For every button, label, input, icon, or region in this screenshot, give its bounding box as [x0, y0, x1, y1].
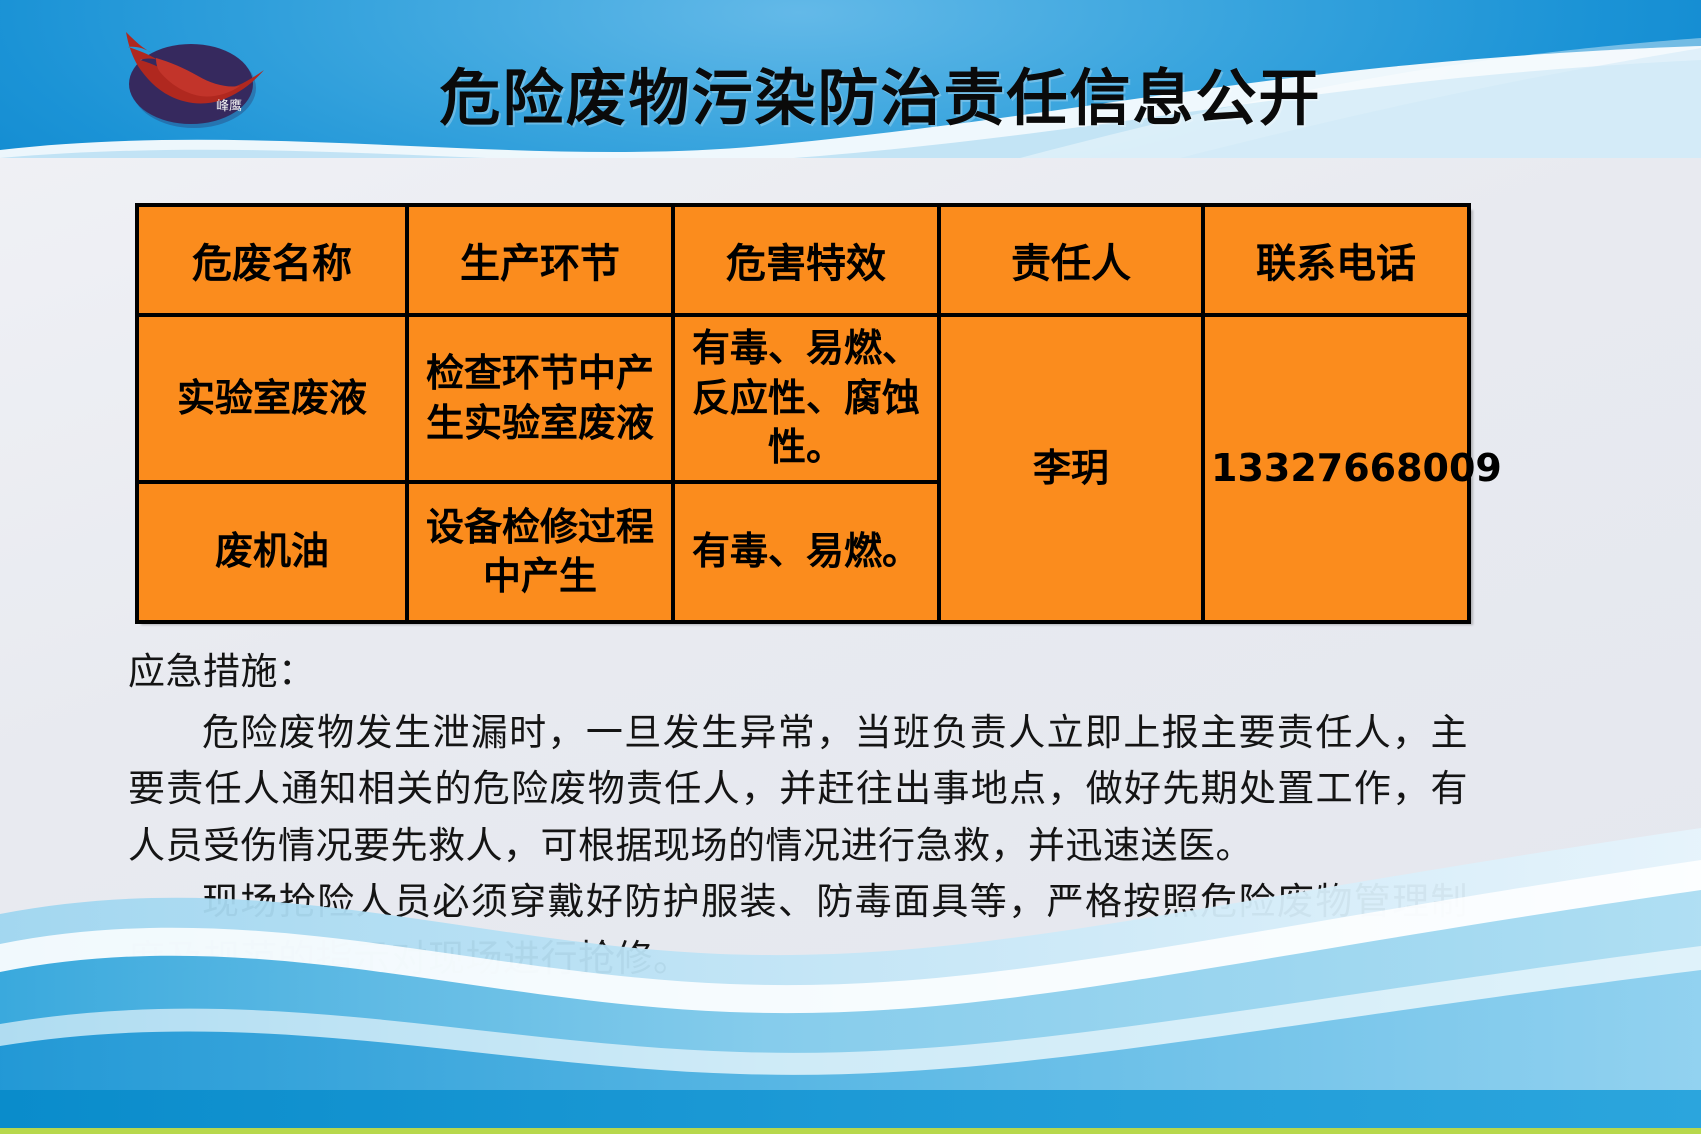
column-header-phone: 联系电话: [1203, 205, 1469, 315]
table-row: 实验室废液 检查环节中产生实验室废液 有毒、易燃、反应性、腐蚀性。 李玥 133…: [137, 315, 1469, 482]
cell-stage: 检查环节中产生实验室废液: [407, 315, 673, 482]
cell-hazard: 有毒、易燃、反应性、腐蚀性。: [673, 315, 939, 482]
header-band: 峰鹰 危险废物污染防治责任信息公开: [0, 0, 1701, 158]
cell-hazard: 有毒、易燃。: [673, 482, 939, 622]
column-header-hazard: 危害特效: [673, 205, 939, 315]
column-header-person: 责任人: [939, 205, 1203, 315]
emergency-measures-label: 应急措施：: [128, 645, 1468, 702]
hazard-waste-table: 危废名称 生产环节 危害特效 责任人 联系电话 实验室废液 检查环节中产生实验室…: [135, 203, 1471, 624]
emergency-paragraph-2: 现场抢险人员必须穿戴好防护服装、防毒面具等，严格按照危险废物管理制度及规范的指示…: [128, 875, 1468, 988]
cell-stage: 设备检修过程中产生: [407, 482, 673, 622]
slide-canvas: 峰鹰 危险废物污染防治责任信息公开 危废名称 生产环节 危害特效 责任人 联系电…: [0, 0, 1701, 1134]
table-header-row: 危废名称 生产环节 危害特效 责任人 联系电话: [137, 205, 1469, 315]
page-title: 危险废物污染防治责任信息公开: [0, 48, 1701, 137]
hazard-waste-table-container: 危废名称 生产环节 危害特效 责任人 联系电话 实验室废液 检查环节中产生实验室…: [135, 203, 1467, 624]
column-header-waste-name: 危废名称: [137, 205, 407, 315]
cell-phone: 13327668009: [1203, 315, 1469, 622]
cell-person: 李玥: [939, 315, 1203, 622]
cell-waste-name: 实验室废液: [137, 315, 407, 482]
emergency-measures-section: 应急措施： 危险废物发生泄漏时，一旦发生异常，当班负责人立即上报主要责任人，主要…: [128, 645, 1468, 989]
cell-waste-name: 废机油: [137, 482, 407, 622]
emergency-paragraph-1: 危险废物发生泄漏时，一旦发生异常，当班负责人立即上报主要责任人，主要责任人通知相…: [128, 706, 1468, 876]
column-header-stage: 生产环节: [407, 205, 673, 315]
